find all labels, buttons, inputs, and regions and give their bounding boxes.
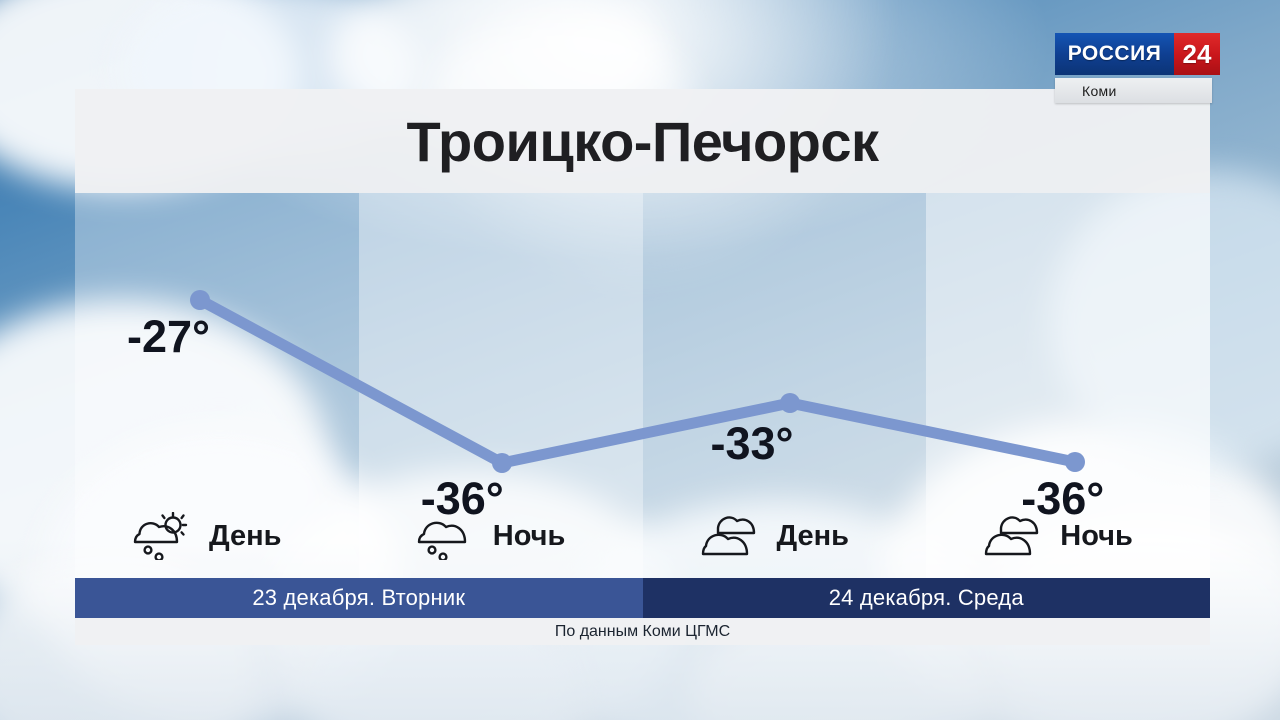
cloudy-icon	[701, 512, 763, 560]
date-label-tuesday: 23 декабря. Вторник	[75, 578, 643, 618]
channel-number: 24	[1174, 33, 1220, 75]
date-label-wednesday: 24 декабря. Среда	[643, 578, 1211, 618]
temperature-value-1: -27°	[127, 311, 210, 363]
source-note: По данным Коми ЦГМС	[555, 623, 730, 641]
dates-bar: 23 декабря. Вторник 24 декабря. Среда	[75, 578, 1210, 618]
cloudy-icon	[984, 512, 1046, 560]
forecast-column-1: -27° День	[75, 193, 359, 578]
daypart-row-3: День	[643, 512, 927, 560]
page-title: Троицко-Печорск	[406, 109, 878, 174]
forecast-column-4: -36° Ночь	[926, 193, 1210, 578]
region-label: Коми	[1055, 78, 1212, 103]
forecast-column-2: -36° Ночь	[359, 193, 643, 578]
source-bar: По данным Коми ЦГМС	[75, 618, 1210, 645]
temperature-value-3: -33°	[711, 418, 794, 470]
daypart-label-2: Ночь	[493, 520, 566, 553]
daypart-label-3: День	[777, 520, 850, 553]
weather-forecast-card: Троицко-Печорск -27°	[75, 89, 1210, 645]
daypart-label-4: Ночь	[1060, 520, 1133, 553]
daypart-label-1: День	[209, 520, 282, 553]
daypart-row-1: День	[75, 512, 359, 560]
daypart-row-2: Ночь	[359, 512, 643, 560]
forecast-column-3: -33° День	[643, 193, 927, 578]
channel-logo: РОССИЯ 24 Коми	[1055, 33, 1220, 103]
temperature-chart: -27° День	[75, 193, 1210, 578]
logo-bar: РОССИЯ 24	[1055, 33, 1220, 75]
daypart-row-4: Ночь	[926, 512, 1210, 560]
cloud-snow-icon	[417, 512, 479, 560]
sun-behind-cloud-snow-icon	[133, 512, 195, 560]
channel-name: РОССИЯ	[1055, 33, 1174, 75]
title-bar: Троицко-Печорск	[75, 89, 1210, 193]
